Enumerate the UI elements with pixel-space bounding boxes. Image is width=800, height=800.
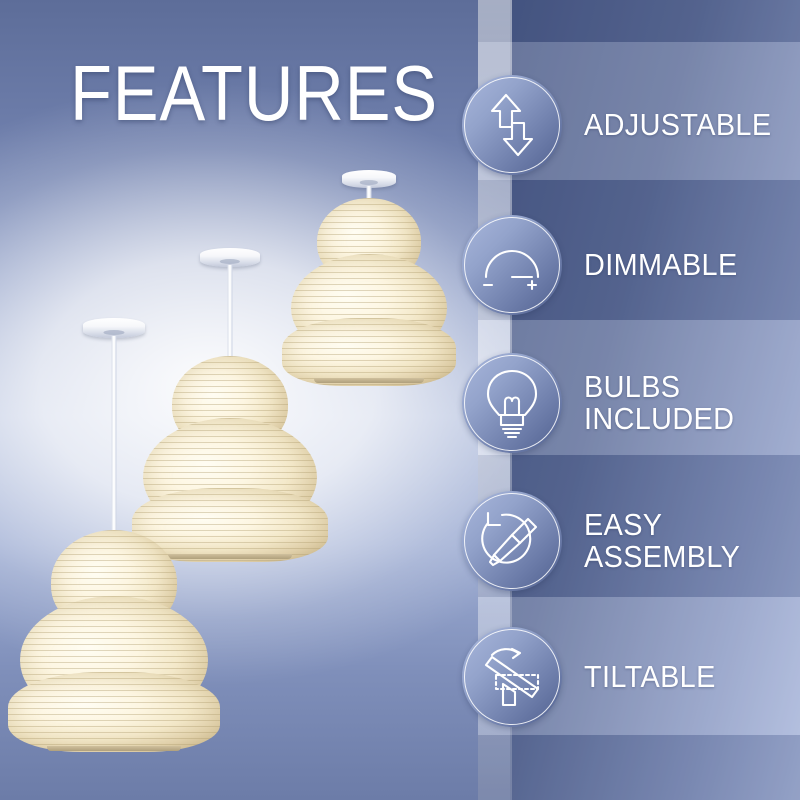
shade-base-rim	[314, 378, 424, 383]
feature-row-dimmable[interactable]: DIMMABLE	[462, 212, 800, 318]
ceiling-canopy	[83, 318, 145, 338]
shade-base-rim	[47, 746, 181, 751]
feature-label: EASY ASSEMBLY	[584, 509, 740, 572]
feature-row-easy-assembly[interactable]: EASY ASSEMBLY	[462, 488, 800, 594]
infographic-canvas: FEATURES ADJUSTABLE DIMMABLE	[0, 0, 800, 800]
lamp-pendant-long	[8, 318, 220, 748]
light-bulb-icon	[462, 353, 562, 453]
feature-label: TILTABLE	[584, 661, 716, 693]
up-down-arrows-icon	[462, 75, 562, 175]
background-band	[478, 735, 800, 800]
feature-label: BULBS INCLUDED	[584, 371, 734, 434]
screwdriver-rotation-icon	[462, 491, 562, 591]
feature-row-tiltable[interactable]: TILTABLE	[462, 624, 800, 730]
background-band	[478, 0, 800, 42]
page-title: FEATURES	[70, 54, 438, 132]
feature-label: DIMMABLE	[584, 249, 738, 281]
tilting-panel-icon	[462, 627, 562, 727]
lamp-cord	[228, 265, 233, 363]
shade-tier-bottom	[8, 672, 220, 752]
dimmer-dial-icon	[462, 215, 562, 315]
feature-row-adjustable[interactable]: ADJUSTABLE	[462, 72, 800, 178]
feature-label: ADJUSTABLE	[584, 109, 771, 141]
lamp-cord	[112, 336, 117, 536]
feature-row-bulbs-included[interactable]: BULBS INCLUDED	[462, 350, 800, 456]
